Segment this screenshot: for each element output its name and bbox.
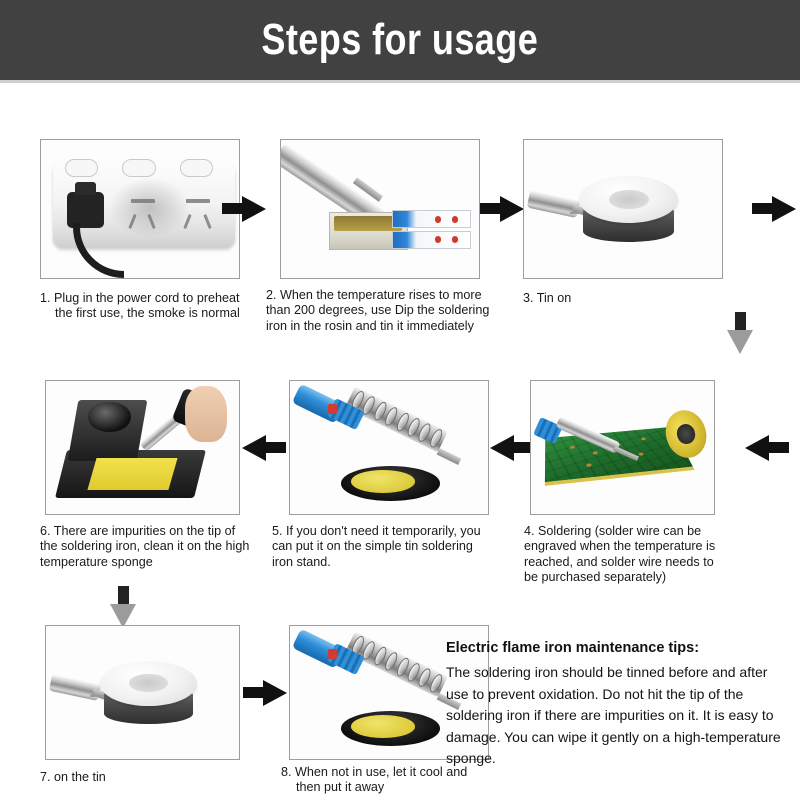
- step-1-image: [40, 139, 240, 279]
- arrow-step2-to-step3-icon: [480, 196, 524, 222]
- maintenance-tips-body: The soldering iron should be tinned befo…: [446, 662, 786, 770]
- solder-spool-scene: [524, 140, 722, 278]
- hand: [185, 386, 227, 442]
- iron-red-indicator: [328, 649, 337, 659]
- arrow-step4-to-step5-icon: [490, 435, 534, 461]
- power-cable: [73, 223, 124, 278]
- page-header: Steps for usage: [0, 0, 800, 80]
- arrow-into-step4-icon: [745, 435, 789, 461]
- step-6-caption: 6. There are impurities on the tip of th…: [40, 524, 265, 570]
- step-4-image: [530, 380, 715, 515]
- page-title: Steps for usage: [262, 15, 539, 65]
- pcb-solder-scene: [531, 381, 714, 514]
- sponge-clean-scene: [46, 381, 239, 514]
- step-3-caption: 3. Tin on: [523, 291, 723, 306]
- arrow-row2-to-row3-icon: [110, 586, 136, 628]
- coil-stand-scene-5: [290, 381, 488, 514]
- arrow-step5-to-step6-icon: [242, 435, 286, 461]
- step-2-image: [280, 139, 480, 279]
- solder-packaging: [392, 210, 471, 228]
- solder-packaging: [392, 231, 471, 249]
- stand-sponge: [351, 715, 414, 738]
- arrow-step1-to-step2-icon: [222, 196, 266, 222]
- outlet-switch: [122, 159, 156, 177]
- solder-spool-scene-7: [46, 626, 239, 759]
- outlet-switch: [180, 159, 214, 177]
- step-5-image: [289, 380, 489, 515]
- maintenance-tips: Electric flame iron maintenance tips: Th…: [446, 640, 786, 770]
- step-5-caption: 5. If you don't need it temporarily, you…: [272, 524, 504, 570]
- stand-sponge: [351, 470, 414, 493]
- step-3-image: [523, 139, 723, 279]
- header-divider: [0, 80, 800, 83]
- maintenance-tips-title: Electric flame iron maintenance tips:: [446, 640, 786, 656]
- step-4-caption: 4. Soldering (solder wire can be engrave…: [524, 524, 764, 586]
- step-2-caption: 2. When the temperature rises to more th…: [266, 288, 511, 334]
- spool-hole: [609, 190, 649, 209]
- rosin-dip-scene: [281, 140, 479, 278]
- arrow-step7-to-step8-icon: [243, 680, 287, 706]
- arrow-step3-to-edge-icon: [752, 196, 796, 222]
- step-6-image: [45, 380, 240, 515]
- power-strip-scene: [41, 140, 239, 278]
- step-1-caption: 1. Plug in the power cord to preheat the…: [40, 291, 255, 322]
- step-7-caption: 7. on the tin: [40, 770, 240, 785]
- step-8-caption: 8. When not in use, let it cool and then…: [281, 765, 496, 796]
- spool-hole: [129, 674, 168, 693]
- outlet-switch: [65, 159, 99, 177]
- arrow-row1-to-row2-icon: [727, 312, 753, 354]
- iron-stand-holder: [88, 402, 130, 431]
- iron-red-indicator: [328, 404, 337, 414]
- cleaning-sponge: [88, 458, 178, 490]
- step-7-image: [45, 625, 240, 760]
- soldering-iron-tip: [436, 448, 460, 464]
